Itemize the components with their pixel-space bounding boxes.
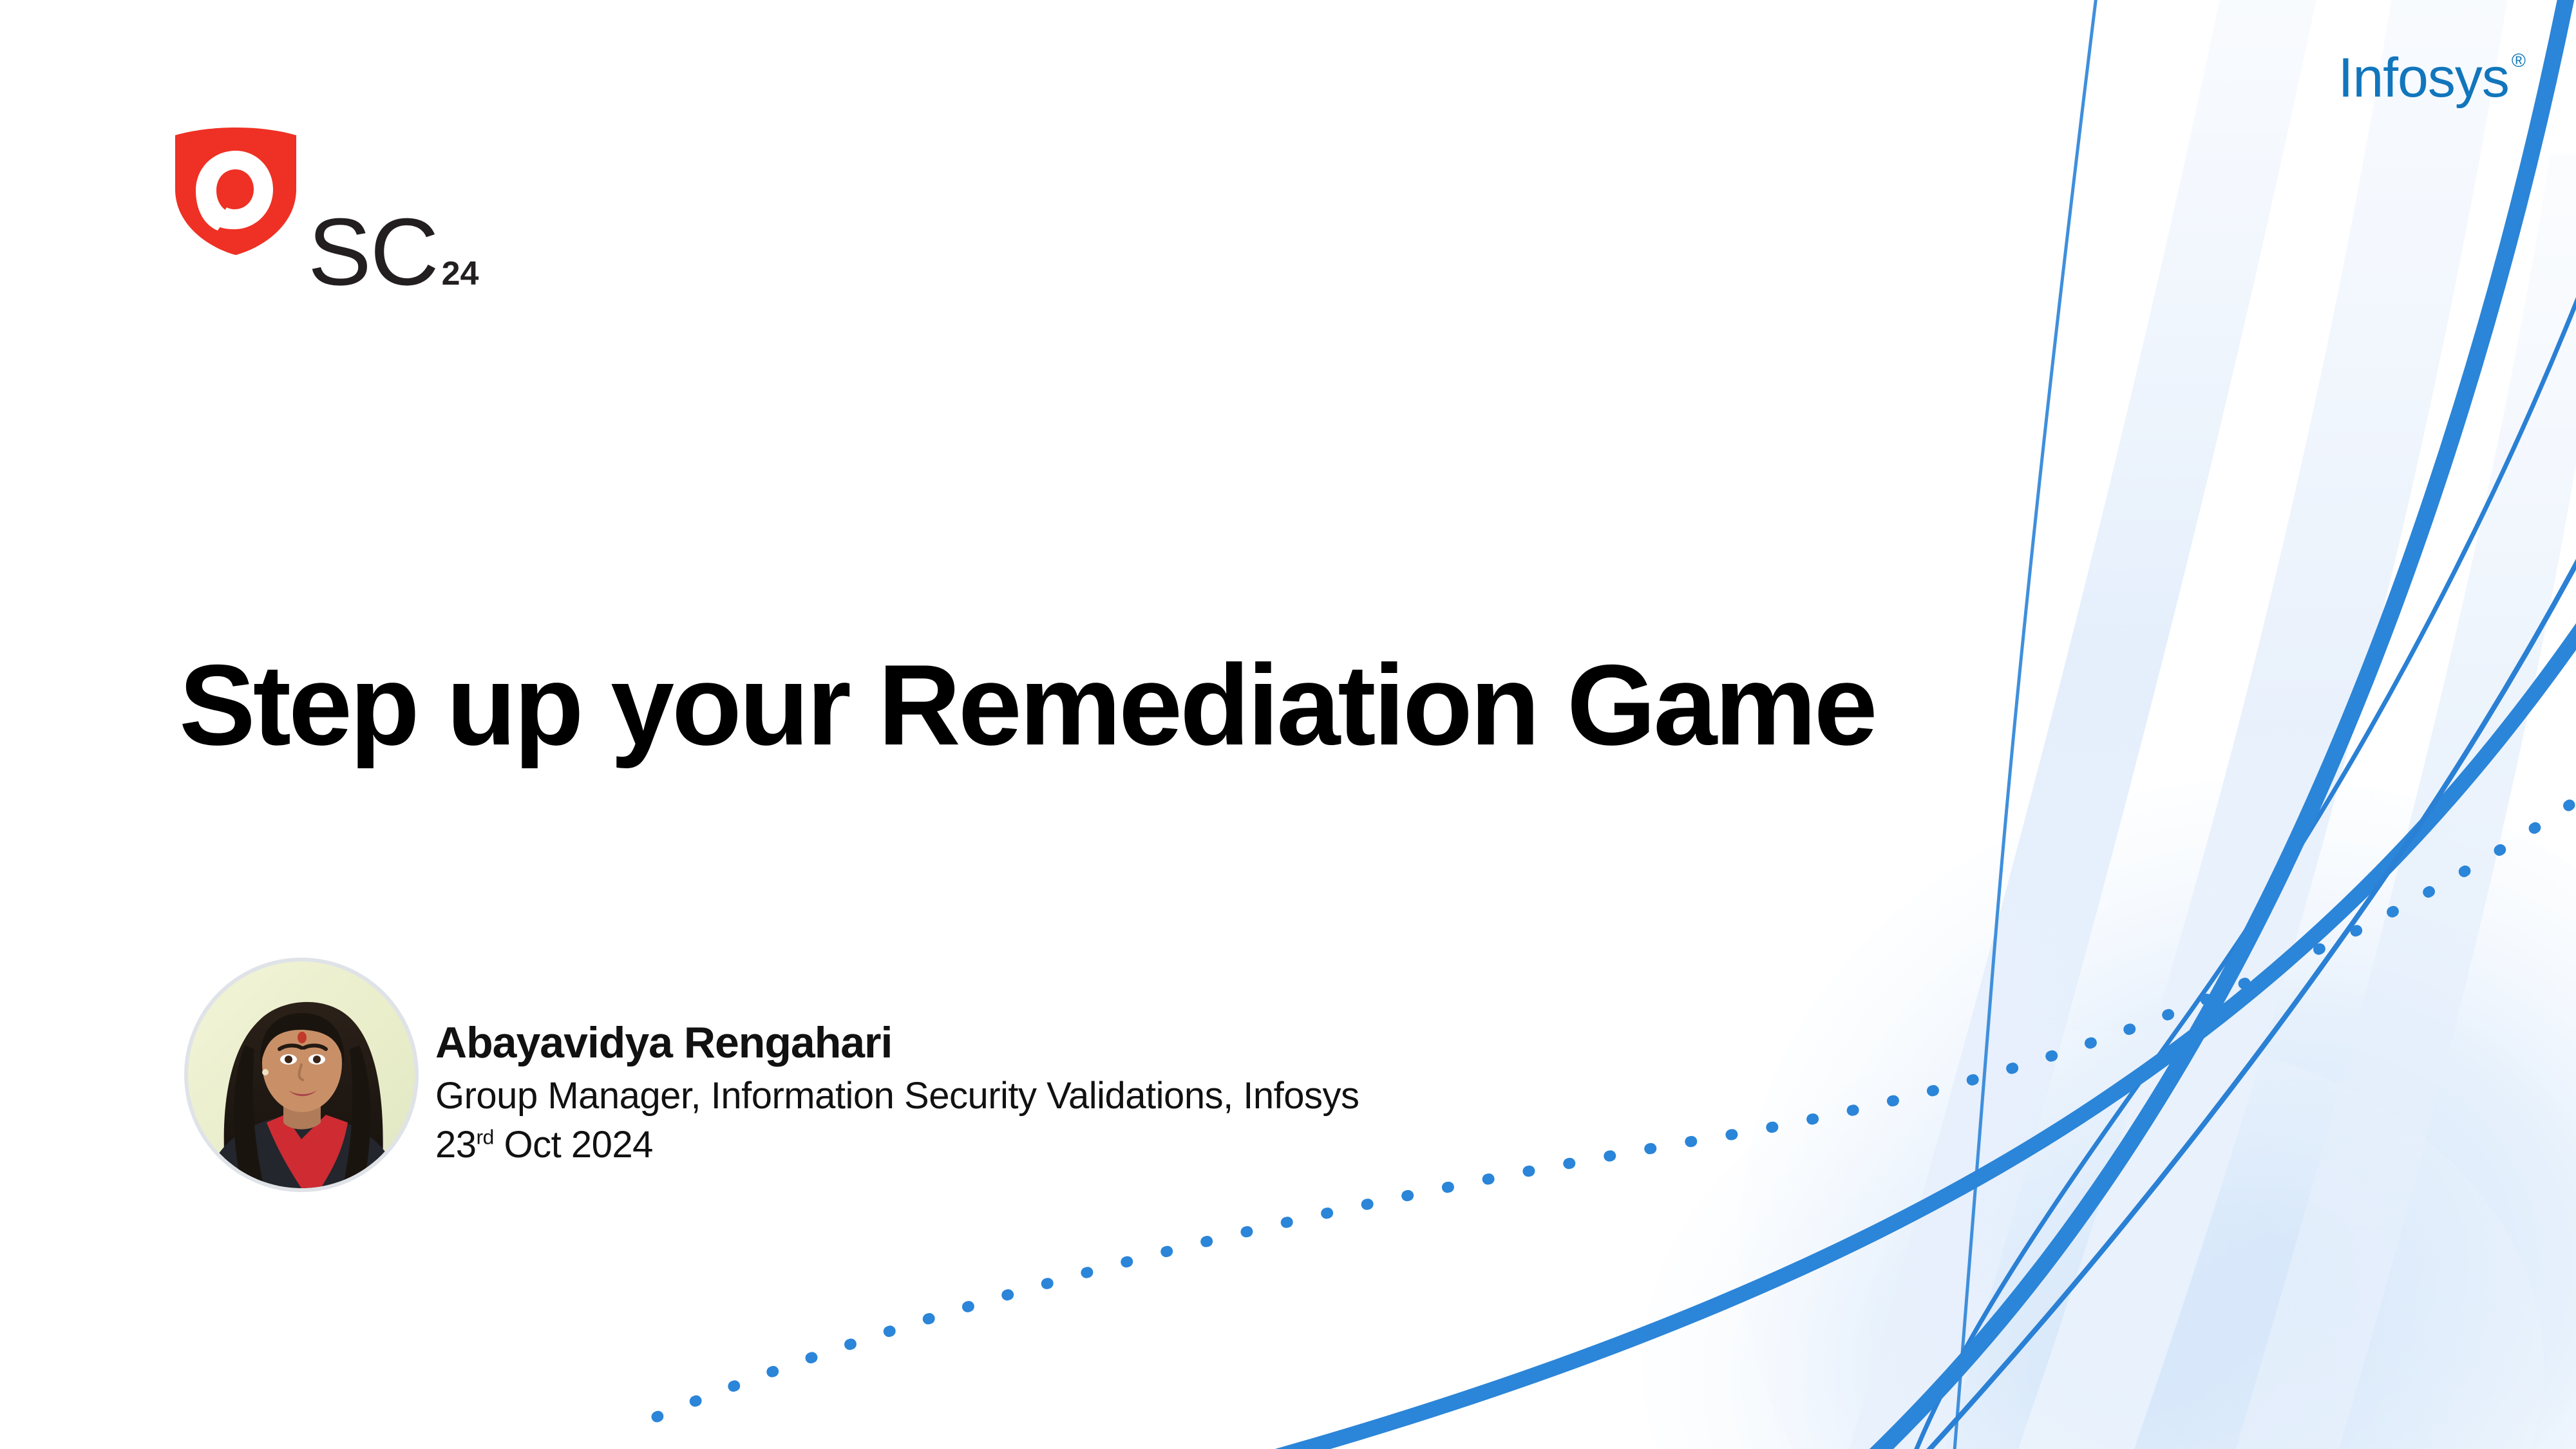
qsc-shield-icon bbox=[173, 122, 299, 256]
date-ordinal: rd bbox=[477, 1126, 494, 1149]
avatar bbox=[175, 958, 421, 1186]
registered-trademark-icon: ® bbox=[2512, 52, 2526, 71]
qsc24-logo: SC 24 bbox=[173, 122, 533, 258]
speaker-details: Abayavidya Rengahari Group Manager, Info… bbox=[435, 958, 1359, 1167]
speaker-date: 23rd Oct 2024 bbox=[435, 1122, 1359, 1168]
pale-ribbon-3 bbox=[2228, 155, 2576, 1449]
date-rest: Oct 2024 bbox=[494, 1124, 653, 1166]
date-day: 23 bbox=[435, 1124, 477, 1166]
glow-ellipse-2 bbox=[1642, 1030, 2544, 1449]
glow-ellipse bbox=[1739, 779, 2576, 1449]
speaker-info: Abayavidya Rengahari Group Manager, Info… bbox=[175, 958, 1359, 1186]
page-title: Step up your Remediation Game bbox=[179, 643, 2433, 767]
qsc-wordmark: SC 24 bbox=[308, 122, 478, 256]
thin-blue-curve-2 bbox=[1906, 270, 2576, 1449]
qsc-sc-label: SC bbox=[308, 205, 438, 300]
qsc-edition-label: 24 bbox=[442, 257, 479, 290]
speaker-name: Abayavidya Rengahari bbox=[435, 1017, 1359, 1068]
presentation-slide: SC 24 Infosys ® Step up your Remediation… bbox=[0, 0, 2576, 1449]
infosys-logo: Infosys ® bbox=[2338, 50, 2526, 106]
avatar-ring bbox=[184, 958, 419, 1192]
infosys-wordmark: Infosys bbox=[2338, 50, 2508, 106]
speaker-role: Group Manager, Information Security Vali… bbox=[435, 1074, 1359, 1119]
